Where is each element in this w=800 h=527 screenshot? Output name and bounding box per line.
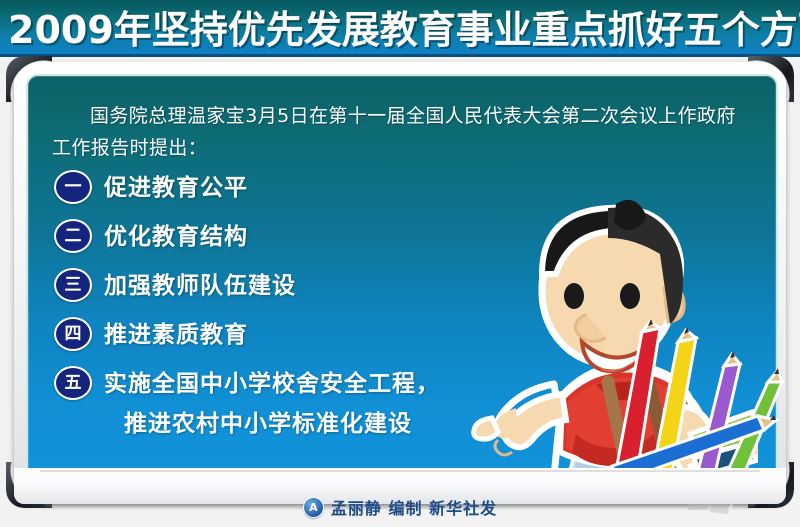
list-item: 四 推进素质教育 (52, 315, 522, 361)
xinhua-logo-icon: A (303, 497, 324, 518)
item-number-badge: 四 (54, 317, 92, 351)
footer-credit: A 孟丽静 编制 新华社发 (0, 492, 800, 522)
title-banner: 2009年坚持优先发展教育事业重点抓好五个方面 (0, 0, 800, 57)
item-number-badge: 三 (54, 268, 92, 302)
infographic-poster: 2009年坚持优先发展教育事业重点抓好五个方面 国务院总理温家宝3月5日在第十一… (0, 0, 800, 527)
points-list: 一 促进教育公平 二 优化教育结构 三 加强教师队伍建设 四 推进素质教育 五 … (52, 168, 522, 447)
list-item: 一 促进教育公平 (52, 168, 522, 214)
item-number-badge: 一 (54, 170, 92, 204)
item-number-badge: 五 (54, 366, 92, 400)
list-item: 三 加强教师队伍建设 (52, 266, 522, 312)
page-title: 2009年坚持优先发展教育事业重点抓好五个方面 (8, 0, 798, 55)
frame-corner-top-left (6, 56, 52, 102)
intro-paragraph: 国务院总理温家宝3月5日在第十一届全国人民代表大会第二次会议上作政府工作报告时提… (52, 100, 752, 164)
list-item: 二 优化教育结构 (52, 217, 522, 263)
list-item: 五 实施全国中小学校舍安全工程， 推进农村中小学标准化建设 (52, 364, 522, 444)
frame-corner-top-right (748, 56, 794, 102)
credit-text: 孟丽静 编制 新华社发 (331, 495, 497, 519)
item-number-badge: 二 (54, 219, 92, 253)
